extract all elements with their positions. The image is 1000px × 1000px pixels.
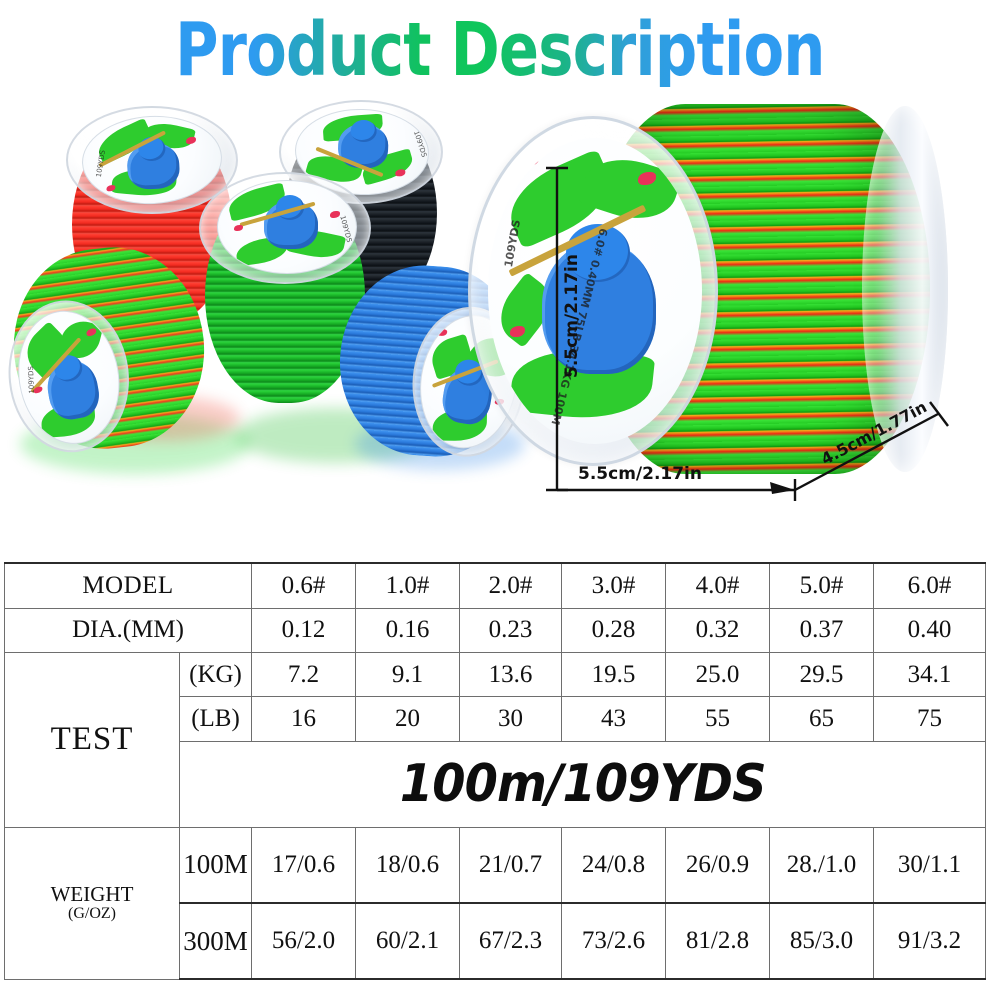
page-title: Product Description (175, 13, 824, 87)
row-label-lb: (LB) (180, 697, 252, 741)
dimension-width-label: 5.5cm/2.17in (578, 464, 702, 484)
row-label-weight: WEIGHT (G/OZ) (5, 827, 180, 979)
table-row-model: MODEL 0.6# 1.0# 2.0# 3.0# 4.0# 5.0# 6.0# (5, 563, 986, 608)
cell-lb-6: 75 (874, 697, 986, 741)
product-photo-area: 109YDS 109YDS (0, 96, 1000, 556)
cell-w300-6: 91/3.2 (874, 903, 986, 979)
cell-kg-0: 7.2 (252, 652, 356, 696)
row-label-weight-main: WEIGHT (5, 883, 179, 905)
cell-w100-2: 21/0.7 (460, 827, 562, 903)
dimension-annotations (0, 96, 1000, 556)
cell-w100-3: 24/0.8 (562, 827, 666, 903)
page-title-band: Product Description (0, 0, 1000, 100)
cell-w100-6: 30/1.1 (874, 827, 986, 903)
cell-lb-3: 43 (562, 697, 666, 741)
cell-dia-0: 0.12 (252, 608, 356, 652)
cell-model-4: 4.0# (666, 563, 770, 608)
cell-w300-4: 81/2.8 (666, 903, 770, 979)
length-banner-text: 100m/109YDS (400, 754, 766, 814)
cell-kg-5: 29.5 (770, 652, 874, 696)
cell-kg-1: 9.1 (356, 652, 460, 696)
cell-lb-0: 16 (252, 697, 356, 741)
cell-model-1: 1.0# (356, 563, 460, 608)
dimension-height-label: 5.5cm/2.17in (562, 254, 582, 378)
cell-w300-1: 60/2.1 (356, 903, 460, 979)
row-label-300m: 300M (180, 903, 252, 979)
cell-dia-3: 0.28 (562, 608, 666, 652)
cell-lb-2: 30 (460, 697, 562, 741)
cell-w100-5: 28./1.0 (770, 827, 874, 903)
length-banner-cell: 100m/109YDS (180, 741, 986, 827)
cell-dia-2: 0.23 (460, 608, 562, 652)
cell-w300-2: 67/2.3 (460, 903, 562, 979)
cell-model-3: 3.0# (562, 563, 666, 608)
cell-w100-0: 17/0.6 (252, 827, 356, 903)
cell-lb-4: 55 (666, 697, 770, 741)
cell-model-5: 5.0# (770, 563, 874, 608)
cell-dia-5: 0.37 (770, 608, 874, 652)
row-label-kg: (KG) (180, 652, 252, 696)
cell-w100-1: 18/0.6 (356, 827, 460, 903)
table-row-weight-100m: WEIGHT (G/OZ) 100M 17/0.6 18/0.6 21/0.7 … (5, 827, 986, 903)
row-label-test: TEST (5, 652, 180, 827)
table-row-dia: DIA.(MM) 0.12 0.16 0.23 0.28 0.32 0.37 0… (5, 608, 986, 652)
table-row-test-kg: TEST (KG) 7.2 9.1 13.6 19.5 25.0 29.5 34… (5, 652, 986, 696)
cell-kg-2: 13.6 (460, 652, 562, 696)
cell-kg-4: 25.0 (666, 652, 770, 696)
cell-lb-5: 65 (770, 697, 874, 741)
cell-kg-6: 34.1 (874, 652, 986, 696)
cell-model-0: 0.6# (252, 563, 356, 608)
specification-table: MODEL 0.6# 1.0# 2.0# 3.0# 4.0# 5.0# 6.0#… (4, 562, 986, 980)
cell-model-6: 6.0# (874, 563, 986, 608)
cell-w100-4: 26/0.9 (666, 827, 770, 903)
specification-table-wrap: MODEL 0.6# 1.0# 2.0# 3.0# 4.0# 5.0# 6.0#… (4, 562, 985, 982)
cell-model-2: 2.0# (460, 563, 562, 608)
row-label-dia: DIA.(MM) (5, 608, 252, 652)
row-label-100m: 100M (180, 827, 252, 903)
cell-dia-1: 0.16 (356, 608, 460, 652)
cell-lb-1: 20 (356, 697, 460, 741)
cell-dia-6: 0.40 (874, 608, 986, 652)
cell-dia-4: 0.32 (666, 608, 770, 652)
cell-w300-0: 56/2.0 (252, 903, 356, 979)
product-description-page: Product Description 109YDS (0, 0, 1000, 1000)
row-label-weight-sub: (G/OZ) (5, 905, 179, 923)
cell-kg-3: 19.5 (562, 652, 666, 696)
row-label-model: MODEL (5, 563, 252, 608)
cell-w300-5: 85/3.0 (770, 903, 874, 979)
cell-w300-3: 73/2.6 (562, 903, 666, 979)
